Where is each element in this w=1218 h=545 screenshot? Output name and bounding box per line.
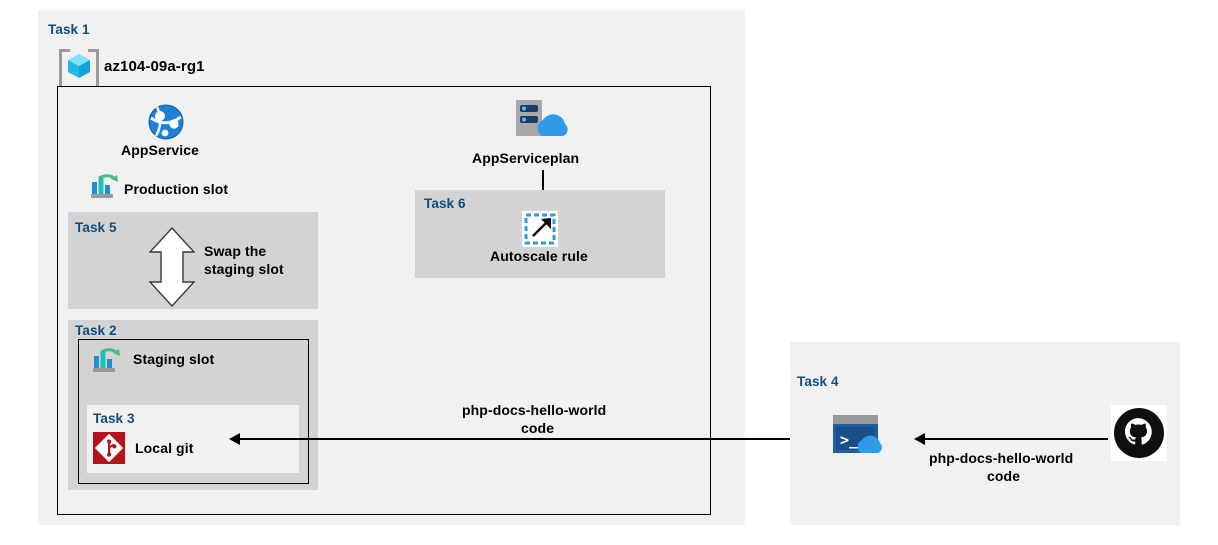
staging-slot-icon [92,348,118,372]
task4-transfer-label-line2: code [987,468,1020,486]
app-service-plan-label: AppServiceplan [472,150,579,166]
task6-label: Task 6 [424,196,466,211]
cloud-shell-icon: >_ [833,415,891,455]
diagram-canvas: Task 1 az104-09a-rg1 AppService [0,0,1218,545]
resource-group-name: az104-09a-rg1 [104,58,205,75]
deployment-slot-icon [90,174,116,198]
shell-to-localgit-line [240,438,827,440]
app-service-plan-icon [512,98,566,142]
task3-label: Task 3 [93,411,135,426]
task4-label: Task 4 [797,374,839,389]
autoscale-rule-icon [522,211,556,245]
task2-label: Task 2 [75,323,117,338]
autoscale-rule-label: Autoscale rule [490,248,588,264]
resource-group-cube-icon [59,49,99,83]
github-to-shell-line [925,438,1108,440]
staging-slot-label: Staging slot [133,351,214,367]
task5-action-line1: Swap the [204,243,266,261]
app-service-label: AppService [121,142,199,158]
code-flow-label-line1: php-docs-hello-world [462,402,606,420]
app-service-globe-icon [148,104,184,140]
swap-double-arrow-icon [145,226,199,308]
task5-action-line2: staging slot [204,261,284,279]
local-git-label: Local git [135,440,193,456]
svg-text:>_: >_ [840,431,859,449]
production-slot-label: Production slot [124,181,228,197]
git-icon [93,432,125,464]
shell-to-localgit-arrowhead [229,433,240,445]
task4-transfer-label-line1: php-docs-hello-world [929,450,1073,468]
github-to-shell-arrowhead [914,433,925,445]
code-flow-label-line2: code [521,420,554,438]
task1-label: Task 1 [48,22,90,37]
task5-label: Task 5 [75,220,117,235]
github-octocat-icon [1111,405,1167,461]
